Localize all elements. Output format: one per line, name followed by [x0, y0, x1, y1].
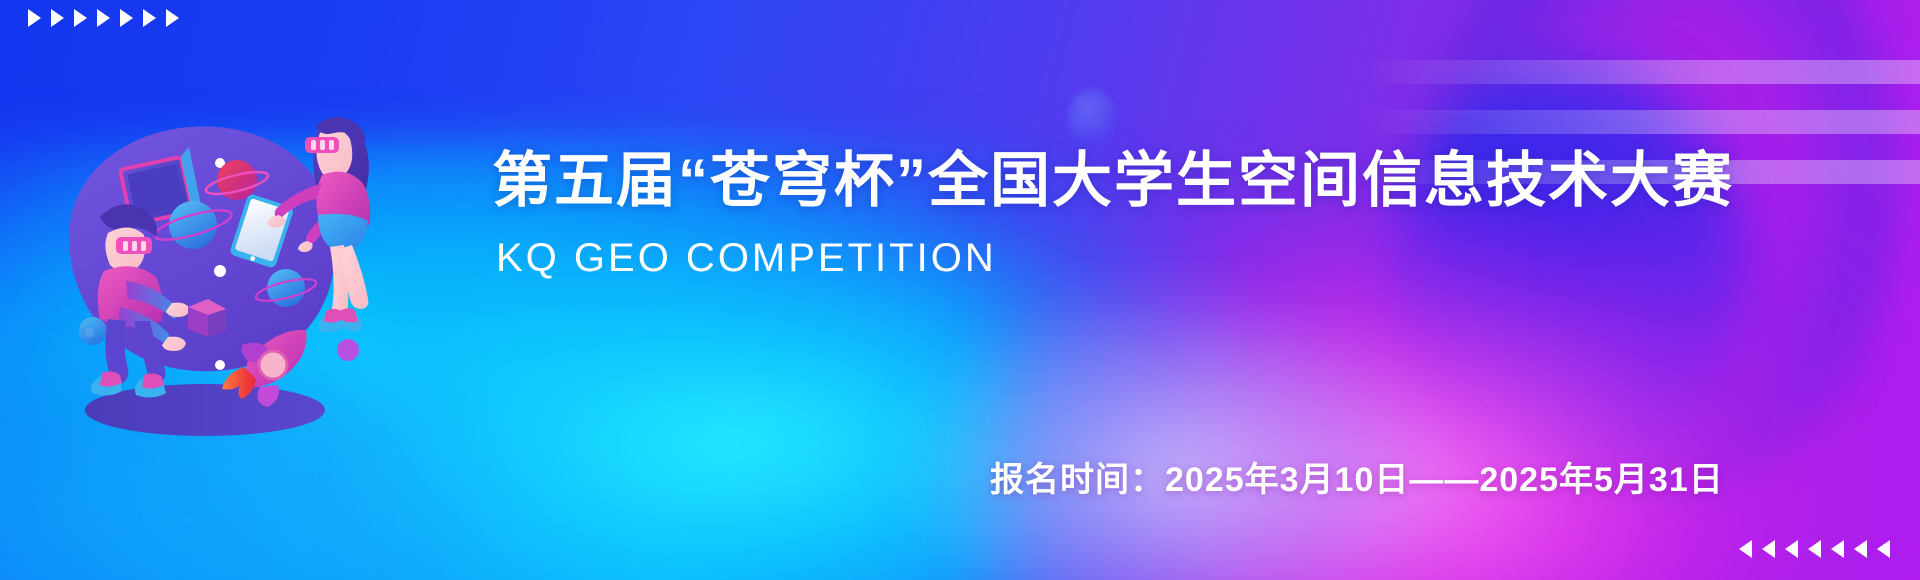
triangle-left-icon	[1762, 540, 1775, 558]
purple-dot	[337, 339, 359, 361]
lavender-haze-glow	[900, 290, 1460, 580]
cyan-secondary-glow	[380, 250, 1280, 580]
bubble-icon	[1068, 88, 1116, 150]
triangle-right-icon	[51, 9, 64, 27]
triangle-left-icon	[1854, 540, 1867, 558]
triangle-left-icon	[1877, 540, 1890, 558]
page-subtitle: KQ GEO COMPETITION	[496, 236, 1734, 281]
page-title: 第五届“苍穹杯”全国大学生空间信息技术大赛	[492, 148, 1734, 214]
triangle-left-icon	[1831, 540, 1844, 558]
triangle-right-icon	[74, 9, 87, 27]
triangle-right-icon	[28, 9, 41, 27]
bottom-right-arrow-row	[1739, 540, 1890, 558]
registration-period: 报名时间：2025年3月10日——2025年5月31日	[990, 452, 1724, 501]
triangle-right-icon	[120, 9, 133, 27]
floor-shadow	[85, 384, 325, 436]
event-banner: 第五届“苍穹杯”全国大学生空间信息技术大赛 KQ GEO COMPETITION…	[0, 0, 1920, 580]
star-icon	[215, 360, 225, 370]
triangle-right-icon	[97, 9, 110, 27]
triangle-right-icon	[166, 9, 179, 27]
stripe-2	[1360, 110, 1920, 134]
triangle-left-icon	[1785, 540, 1798, 558]
vr-students-space-illustration	[30, 75, 390, 455]
triangle-left-icon	[1739, 540, 1752, 558]
stripe-1	[1360, 60, 1920, 84]
top-left-arrow-row	[28, 9, 179, 27]
star-icon	[214, 265, 226, 277]
triangle-right-icon	[143, 9, 156, 27]
triangle-left-icon	[1808, 540, 1821, 558]
title-block: 第五届“苍穹杯”全国大学生空间信息技术大赛 KQ GEO COMPETITION	[492, 148, 1734, 281]
blue-planet-small	[79, 317, 107, 345]
